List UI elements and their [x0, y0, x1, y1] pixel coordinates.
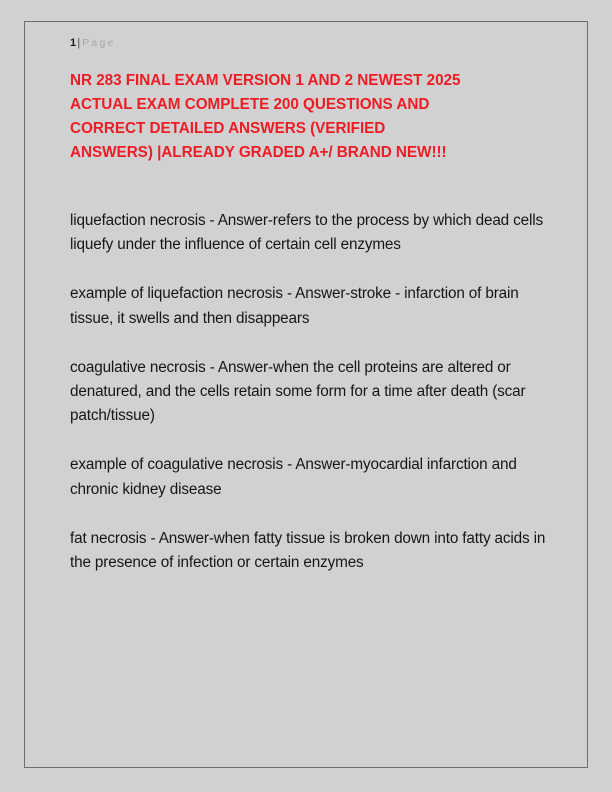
qa-block: coagulative necrosis - Answer-when the c…	[70, 356, 548, 429]
page-label: Page	[82, 37, 115, 49]
page-number: 1	[70, 37, 76, 49]
qa-block: example of coagulative necrosis - Answer…	[70, 453, 548, 501]
qa-block: liquefaction necrosis - Answer-refers to…	[70, 209, 548, 257]
document-title-line: ACTUAL EXAM COMPLETE 200 QUESTIONS AND	[70, 93, 548, 117]
block-spacer	[70, 331, 548, 356]
document-title-line: NR 283 FINAL EXAM VERSION 1 AND 2 NEWEST…	[70, 69, 548, 93]
block-spacer	[70, 502, 548, 527]
block-spacer	[70, 257, 548, 282]
page-header-separator: |	[77, 37, 80, 49]
document-content: NR 283 FINAL EXAM VERSION 1 AND 2 NEWEST…	[70, 69, 548, 575]
page-header: 1|Page	[70, 36, 116, 50]
document-page: 1|Page NR 283 FINAL EXAM VERSION 1 AND 2…	[24, 21, 588, 768]
title-spacer	[70, 165, 548, 209]
qa-block: fat necrosis - Answer-when fatty tissue …	[70, 527, 548, 575]
document-title: NR 283 FINAL EXAM VERSION 1 AND 2 NEWEST…	[70, 69, 548, 165]
qa-block: example of liquefaction necrosis - Answe…	[70, 282, 548, 330]
document-title-line: ANSWERS) |ALREADY GRADED A+/ BRAND NEW!!…	[70, 141, 548, 165]
document-title-line: CORRECT DETAILED ANSWERS (VERIFIED	[70, 117, 548, 141]
block-spacer	[70, 428, 548, 453]
